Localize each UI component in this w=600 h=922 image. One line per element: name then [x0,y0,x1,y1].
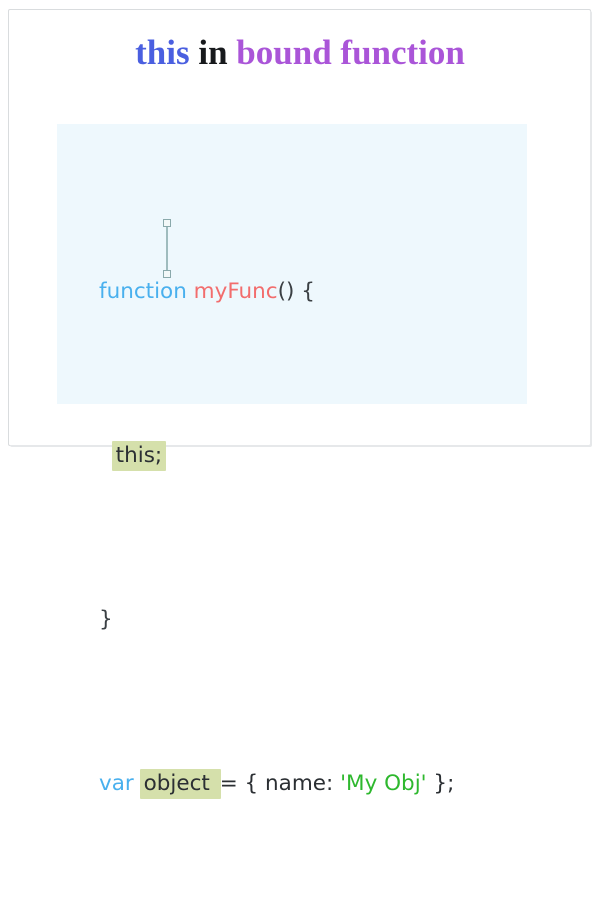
token-object-literal-close: }; [427,771,455,796]
token-indent-2 [99,443,113,468]
slide-canvas: this in bound function function myFunc()… [0,0,600,461]
token-parens-brace-open: () { [278,279,315,304]
code-block-panel: function myFunc() { this; } var object =… [57,124,527,404]
token-space-1 [187,279,194,304]
token-keyword-var-1: var [99,771,134,796]
token-function-name: myFunc [194,279,278,304]
page-title: this in bound function [0,33,600,73]
code-line-2: this; [99,435,468,476]
code-line-4: var object = { name: 'My Obj' }; [99,763,468,804]
code-line-1: function myFunc() { [99,271,468,312]
code-line-3: } [99,599,468,640]
title-segment-in: in [190,33,237,72]
title-segment-bound: bound function [236,33,465,72]
title-segment-this: this [135,33,189,72]
code-listing: function myFunc() { this; } var object =… [99,148,468,922]
token-keyword-function: function [99,279,187,304]
highlight-this-keyword: this; [112,441,166,471]
token-string-my-obj: 'My Obj' [340,771,426,796]
token-brace-close: } [99,607,113,632]
token-object-literal-open: = { name: [220,771,340,796]
highlight-object-identifier: object [140,769,221,799]
